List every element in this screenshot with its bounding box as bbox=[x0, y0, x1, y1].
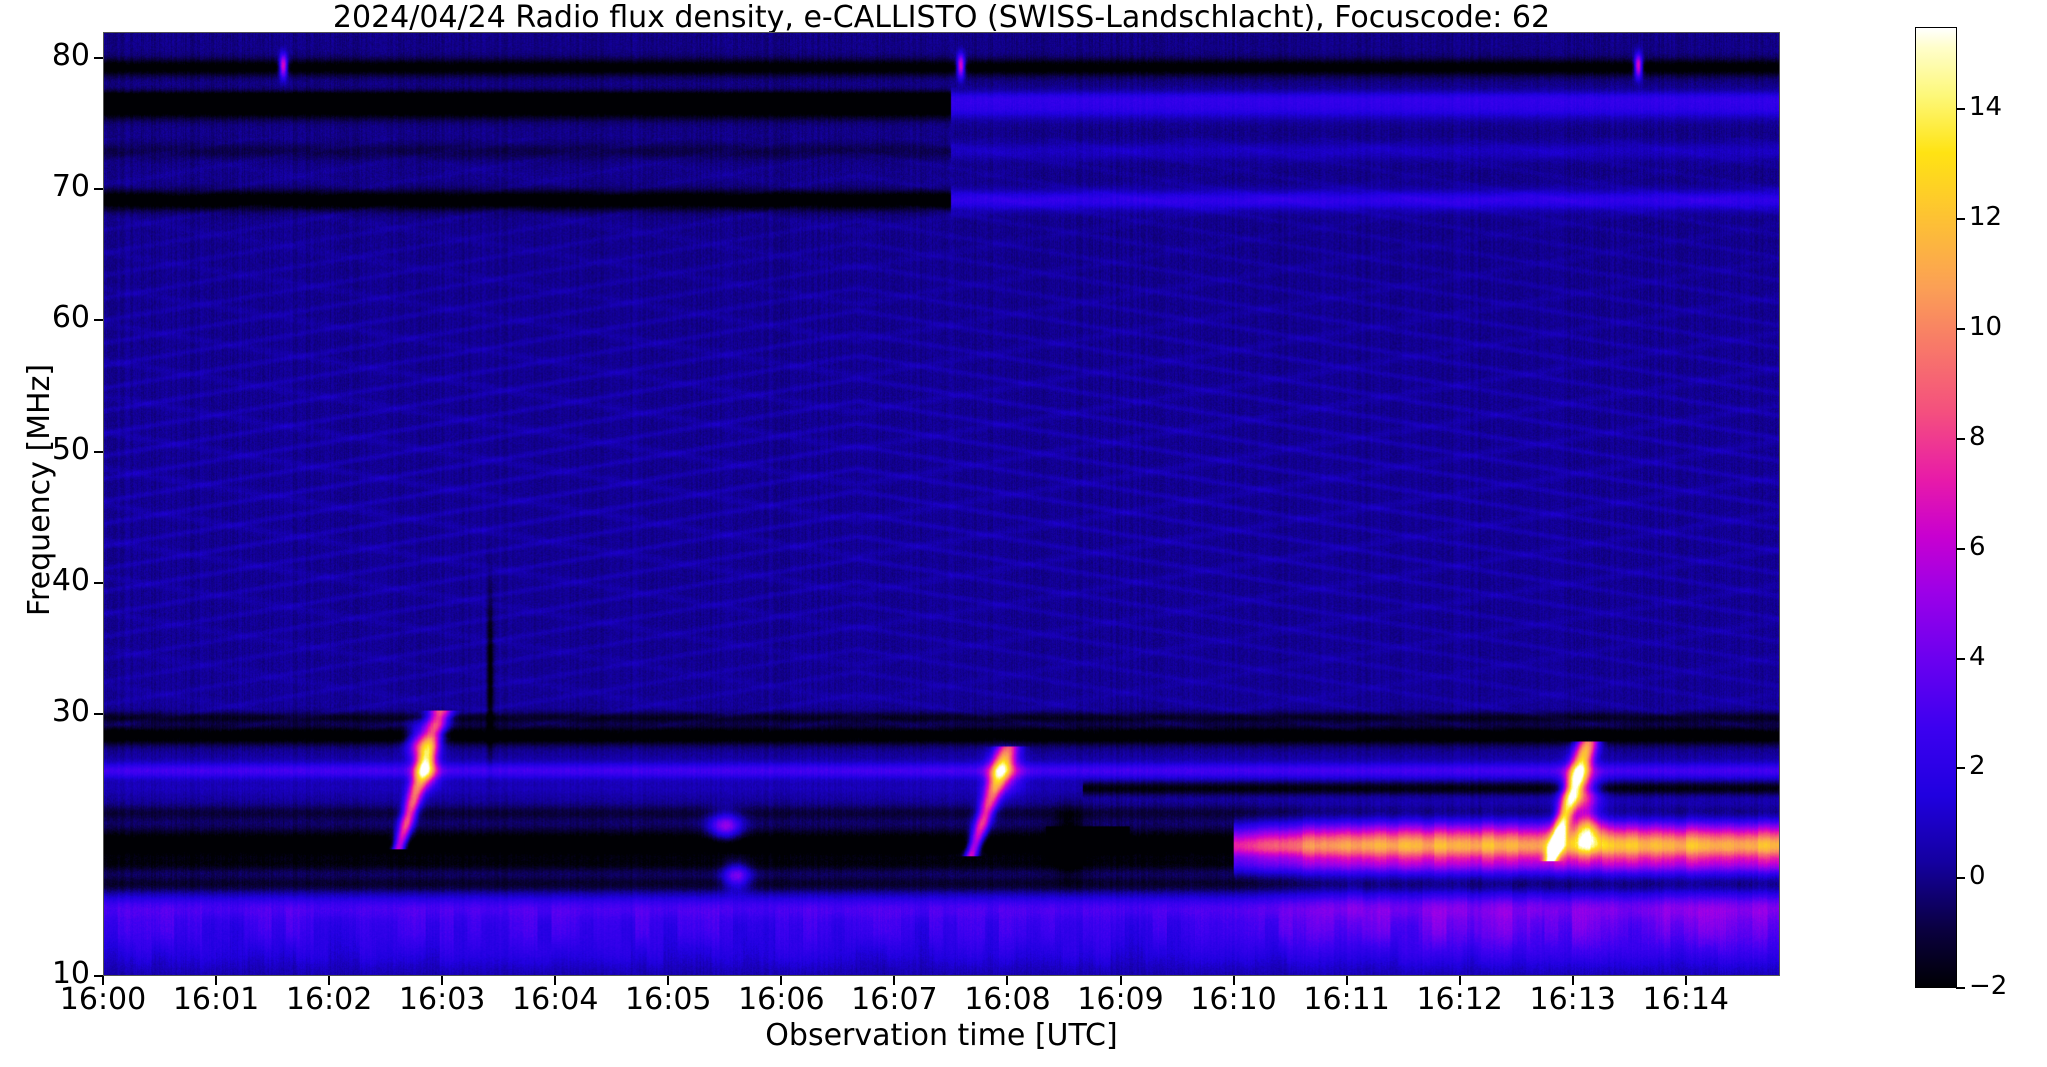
x-axis-label: Observation time [UTC] bbox=[103, 1018, 1780, 1058]
colorbar-tick-mark bbox=[1956, 108, 1965, 110]
colorbar-tick-label: 12 bbox=[1969, 202, 2002, 232]
colorbar-tick-mark bbox=[1956, 658, 1965, 660]
colorbar-tick-mark bbox=[1956, 438, 1965, 440]
colorbar-tick-label: 10 bbox=[1969, 312, 2002, 342]
y-tick-mark bbox=[94, 57, 103, 59]
y-tick-label: 80 bbox=[20, 38, 90, 73]
x-tick-mark bbox=[893, 976, 895, 985]
y-tick-mark bbox=[94, 319, 103, 321]
x-tick-mark bbox=[1120, 976, 1122, 985]
y-tick-label: 50 bbox=[20, 432, 90, 467]
colorbar-tick-label: 0 bbox=[1969, 861, 1986, 891]
y-tick-label: 60 bbox=[20, 300, 90, 335]
x-tick-mark bbox=[780, 976, 782, 985]
y-tick-mark bbox=[94, 451, 103, 453]
x-tick-mark bbox=[1459, 976, 1461, 985]
colorbar-tick-label: 2 bbox=[1969, 751, 1986, 781]
y-tick-label: 30 bbox=[20, 694, 90, 729]
y-tick-label: 40 bbox=[20, 563, 90, 598]
colorbar-tick-mark bbox=[1956, 218, 1965, 220]
y-tick-mark bbox=[94, 188, 103, 190]
x-tick-mark bbox=[441, 976, 443, 985]
y-tick-label: 70 bbox=[20, 169, 90, 204]
colorbar bbox=[1915, 27, 1957, 988]
colorbar-tick-mark bbox=[1956, 987, 1965, 989]
y-axis-label: Frequency [MHz] bbox=[22, 110, 62, 870]
colorbar-tick-label: 6 bbox=[1969, 532, 1986, 562]
colorbar-tick-mark bbox=[1956, 767, 1965, 769]
x-tick-mark bbox=[1572, 976, 1574, 985]
colorbar-tick-mark bbox=[1956, 548, 1965, 550]
colorbar-tick-label: 8 bbox=[1969, 422, 1986, 452]
page-title: 2024/04/24 Radio flux density, e-CALLIST… bbox=[103, 2, 1780, 34]
x-tick-mark bbox=[1006, 976, 1008, 985]
x-tick-mark bbox=[102, 976, 104, 985]
colorbar-tick-label: 4 bbox=[1969, 642, 1986, 672]
spectrogram-canvas bbox=[104, 33, 1779, 975]
x-tick-mark bbox=[1233, 976, 1235, 985]
y-tick-mark bbox=[94, 713, 103, 715]
x-tick-label: 16:14 bbox=[1606, 982, 1766, 1017]
x-tick-mark bbox=[1346, 976, 1348, 985]
x-tick-mark bbox=[328, 976, 330, 985]
x-tick-mark bbox=[1685, 976, 1687, 985]
x-tick-mark bbox=[554, 976, 556, 985]
x-tick-mark bbox=[667, 976, 669, 985]
colorbar-tick-label: −2 bbox=[1969, 971, 2007, 1001]
y-tick-mark bbox=[94, 582, 103, 584]
colorbar-tick-mark bbox=[1956, 328, 1965, 330]
colorbar-tick-mark bbox=[1956, 877, 1965, 879]
x-tick-mark bbox=[215, 976, 217, 985]
colorbar-tick-label: 14 bbox=[1969, 92, 2002, 122]
spectrogram-plot bbox=[103, 32, 1780, 976]
